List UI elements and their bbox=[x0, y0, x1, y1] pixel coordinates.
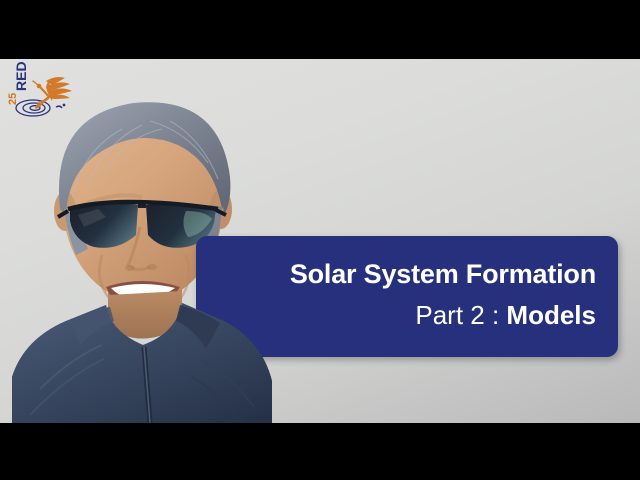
title-banner: Solar System Formation Part 2 : Models bbox=[196, 236, 618, 357]
letterbox-top-bar bbox=[0, 0, 640, 59]
logo-wordmark: RED bbox=[13, 61, 29, 91]
video-player-frame: Solar System Formation Part 2 : Models bbox=[0, 0, 640, 480]
banner-subtitle-part: Part 2 : bbox=[415, 300, 506, 330]
banner-subtitle: Part 2 : Models bbox=[206, 298, 596, 332]
video-frame: Solar System Formation Part 2 : Models bbox=[0, 59, 640, 423]
logo-anniversary-number: 25 bbox=[8, 93, 19, 105]
title-banner-text: Solar System Formation Part 2 : Models bbox=[206, 258, 596, 332]
letterbox-bottom-bar bbox=[0, 423, 640, 480]
banner-title: Solar System Formation bbox=[206, 258, 596, 290]
banner-subtitle-emphasis: Models bbox=[506, 300, 596, 330]
red-25-logo[interactable]: RED 25 bbox=[8, 61, 78, 123]
